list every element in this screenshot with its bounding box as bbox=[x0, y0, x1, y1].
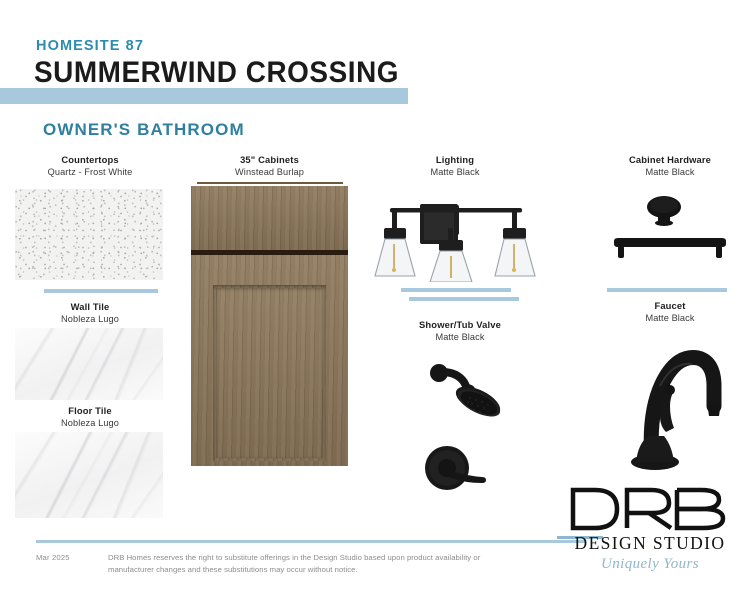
divider-shower-valve-lower bbox=[409, 297, 519, 301]
image-cabinet-hardware bbox=[606, 192, 734, 262]
swatch-floor-tile-marble bbox=[15, 432, 163, 518]
selection-spec: Quartz - Frost White bbox=[14, 166, 166, 179]
cabinet-door-panel-inner bbox=[216, 288, 323, 458]
cabinet-door-front bbox=[191, 255, 348, 466]
image-shower-head-and-valve bbox=[402, 352, 572, 492]
cabinet-drawer-front bbox=[191, 186, 348, 250]
footer-disclaimer: DRB Homes reserves the right to substitu… bbox=[108, 552, 508, 575]
divider-shower-valve-upper bbox=[401, 288, 511, 292]
label-lighting: Lighting Matte Black bbox=[380, 153, 530, 179]
selection-title: 35" Cabinets bbox=[192, 153, 347, 166]
label-countertops: Countertops Quartz - Frost White bbox=[14, 153, 166, 179]
swatch-countertops-quartz bbox=[15, 189, 163, 280]
label-cabinet-hardware: Cabinet Hardware Matte Black bbox=[592, 153, 748, 179]
selection-title: Shower/Tub Valve bbox=[385, 318, 535, 331]
design-studio-selection-sheet: HOMESITE 87 SUMMERWIND CROSSING OWNER'S … bbox=[0, 0, 754, 600]
selection-title: Lighting bbox=[380, 153, 530, 166]
header-accent-band bbox=[0, 88, 408, 104]
selection-spec: Matte Black bbox=[592, 312, 748, 325]
selection-title: Wall Tile bbox=[14, 300, 166, 313]
selection-spec: Nobleza Lugo bbox=[14, 417, 166, 430]
divider-faucet bbox=[607, 288, 727, 292]
footer-date: Mar 2025 bbox=[36, 553, 70, 562]
drb-design-studio-logo: DESIGN STUDIO Uniquely Yours bbox=[565, 486, 735, 573]
selection-spec: Nobleza Lugo bbox=[14, 313, 166, 326]
label-floor-tile: Floor Tile Nobleza Lugo bbox=[14, 404, 166, 430]
room-title: OWNER'S BATHROOM bbox=[43, 120, 245, 140]
logo-wordmark: DESIGN STUDIO bbox=[565, 533, 735, 554]
image-lavatory-faucet bbox=[622, 340, 742, 475]
selection-title: Countertops bbox=[14, 153, 166, 166]
label-faucet: Faucet Matte Black bbox=[592, 299, 748, 325]
drb-monogram-icon bbox=[565, 486, 735, 532]
label-wall-tile: Wall Tile Nobleza Lugo bbox=[14, 300, 166, 326]
label-shower-tub-valve: Shower/Tub Valve Matte Black bbox=[385, 318, 535, 344]
selection-spec: Matte Black bbox=[380, 166, 530, 179]
selection-spec: Winstead Burlap bbox=[192, 166, 347, 179]
logo-tagline: Uniquely Yours bbox=[565, 556, 735, 573]
selection-title: Faucet bbox=[592, 299, 748, 312]
homesite-label: HOMESITE 87 bbox=[36, 38, 144, 54]
swatch-wall-tile-marble bbox=[15, 328, 163, 400]
image-vanity-light-fixture bbox=[372, 190, 538, 282]
page-title: SUMMERWIND CROSSING bbox=[34, 56, 399, 90]
image-cabinet-door bbox=[191, 186, 348, 466]
selection-title: Floor Tile bbox=[14, 404, 166, 417]
selection-title: Cabinet Hardware bbox=[592, 153, 748, 166]
divider-cabinets bbox=[197, 182, 343, 184]
footer-divider bbox=[36, 540, 586, 543]
selection-spec: Matte Black bbox=[592, 166, 748, 179]
cabinet-door-panel bbox=[213, 285, 326, 461]
divider-wall-tile bbox=[44, 289, 158, 293]
selection-spec: Matte Black bbox=[385, 331, 535, 344]
label-cabinets: 35" Cabinets Winstead Burlap bbox=[192, 153, 347, 179]
